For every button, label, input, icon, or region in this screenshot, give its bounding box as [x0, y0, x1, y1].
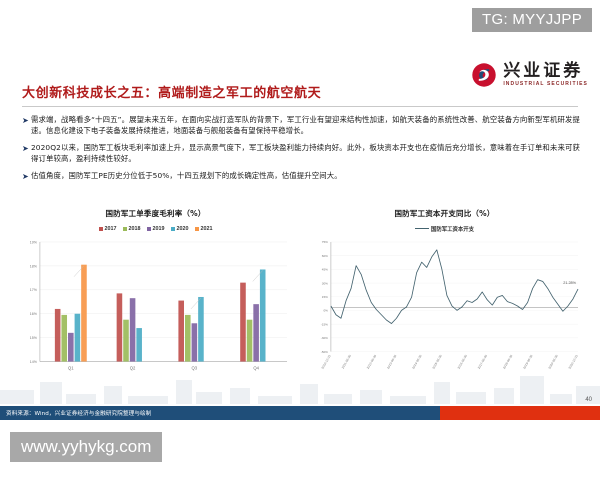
- logo-name-en: INDUSTRIAL SECURITIES: [503, 82, 588, 87]
- legend-label: 2018: [129, 226, 141, 232]
- legend-label: 国防军工资本开支: [431, 225, 474, 233]
- bullet-arrow-icon: ➤: [22, 171, 31, 182]
- bullet-item: ➤ 估值角度，国防军工PE历史分位低于50%，十四五规划下的成长确定性高，估值提…: [22, 170, 580, 182]
- y-axis-tick-label: -15%: [321, 322, 328, 326]
- legend-color-swatch: [99, 227, 103, 231]
- footer-bar: 资料来源：Wind，兴业证券经济与金融研究院整理与绘制: [0, 406, 600, 420]
- y-axis-tick-label: 0%: [323, 309, 328, 313]
- x-axis-tick-label: 2015-06-30: [431, 354, 442, 370]
- legend-item: 2021: [195, 226, 213, 232]
- source-text: 资料来源：Wind，兴业证券经济与金融研究院整理与绘制: [6, 409, 151, 417]
- bullet-arrow-icon: ➤: [22, 143, 31, 154]
- chart-title: 国防军工资本开支同比（%）: [305, 208, 584, 219]
- site-watermark: www.yyhykg.com: [10, 432, 162, 462]
- bar: [198, 297, 204, 362]
- legend-item: 2019: [147, 226, 165, 232]
- bullet-text: 需求端，战略看多“十四五”。展望未来五年，在面向实战打造军队的背景下，军工行业有…: [31, 114, 580, 137]
- bullet-list: ➤ 需求端，战略看多“十四五”。展望未来五年，在面向实战打造军队的背景下，军工行…: [22, 114, 580, 187]
- bullet-arrow-icon: ➤: [22, 115, 31, 126]
- x-axis-tick-label: 2011-06-30: [341, 354, 352, 370]
- bar: [260, 269, 266, 361]
- x-axis-tick-label: 2017-06-30: [477, 354, 488, 370]
- legend-color-swatch: [171, 227, 175, 231]
- x-axis-tick-label: 2013-06-30: [386, 354, 397, 370]
- bar: [253, 304, 259, 361]
- bar: [136, 328, 142, 361]
- y-axis-tick-label: -30%: [321, 336, 328, 340]
- bar: [117, 293, 123, 361]
- page-number: 40: [585, 397, 592, 403]
- line-chart-canvas: 75%60%45%30%15%0%-15%-30%-50%2010-12-312…: [305, 236, 584, 385]
- skyline-decoration: [0, 370, 600, 404]
- slide-canvas: 兴业证券 INDUSTRIAL SECURITIES 大创新科技成长之五：高端制…: [0, 50, 600, 420]
- y-axis-tick-label: 18%: [30, 264, 38, 268]
- bullet-text: 2020Q2以来，国防军工板块毛利率加速上升，显示高景气度下，军工板块盈利能力持…: [31, 142, 580, 165]
- x-axis-tick-label: 2016-06-30: [457, 354, 468, 370]
- y-axis-tick-label: 15%: [30, 336, 38, 340]
- bar: [130, 298, 136, 361]
- brand-logo: 兴业证券 INDUSTRIAL SECURITIES: [471, 62, 588, 88]
- bar: [247, 320, 253, 362]
- x-axis-tick-label: 2010-12-31: [320, 354, 331, 370]
- title-row: 大创新科技成长之五：高端制造之军工的航空航天: [22, 82, 442, 101]
- bar-chart-canvas: 19%18%17%16%15%14%Q1Q2Q3Q4: [16, 236, 295, 385]
- x-axis-tick-label: 2012-06-30: [366, 354, 377, 370]
- series-annotation-label: 21.28%: [563, 281, 576, 285]
- y-axis-tick-label: 45%: [322, 268, 328, 272]
- legend-item: 2020: [171, 226, 189, 232]
- chart-legend: 20172018201920202021: [16, 224, 295, 233]
- y-axis-tick-label: 75%: [322, 240, 328, 244]
- bullet-text: 估值角度，国防军工PE历史分位低于50%，十四五规划下的成长确定性高，估值提升空…: [31, 170, 342, 181]
- page-title: 大创新科技成长之五：高端制造之军工的航空航天: [22, 82, 442, 101]
- telegram-watermark: TG: MYYJJPP: [472, 8, 592, 32]
- legend-line-swatch: [415, 228, 429, 229]
- x-axis-tick-label: 2018-06-30: [502, 354, 513, 370]
- bullet-item: ➤ 2020Q2以来，国防军工板块毛利率加速上升，显示高景气度下，军工板块盈利能…: [22, 142, 580, 165]
- y-axis-tick-label: -50%: [321, 350, 328, 354]
- footer-source-band: 资料来源：Wind，兴业证券经济与金融研究院整理与绘制: [0, 406, 440, 420]
- legend-label: 2021: [201, 226, 213, 232]
- legend-item: 2017: [99, 226, 117, 232]
- bar: [61, 315, 67, 362]
- y-axis-tick-label: 14%: [30, 360, 38, 364]
- legend-color-swatch: [147, 227, 151, 231]
- legend-label: 2020: [177, 226, 189, 232]
- footer-accent-band: [440, 406, 600, 420]
- bullet-item: ➤ 需求端，战略看多“十四五”。展望未来五年，在面向实战打造军队的背景下，军工行…: [22, 114, 580, 137]
- bar: [185, 315, 191, 362]
- legend-color-swatch: [195, 227, 199, 231]
- legend-label: 2019: [153, 226, 165, 232]
- bar: [55, 309, 61, 362]
- y-axis-tick-label: 15%: [322, 295, 328, 299]
- bar: [240, 283, 246, 362]
- x-axis-tick-label: 2014-06-30: [411, 354, 422, 370]
- y-axis-tick-label: 60%: [322, 254, 328, 258]
- bar: [81, 265, 87, 362]
- bar: [192, 323, 198, 361]
- bar: [75, 314, 81, 362]
- bar: [178, 301, 184, 362]
- chart-gross-margin: 国防军工单季度毛利率（%） 20172018201920202021 19%18…: [16, 208, 295, 388]
- chart-legend: 国防军工资本开支: [305, 224, 584, 233]
- charts-row: 国防军工单季度毛利率（%） 20172018201920202021 19%18…: [16, 208, 584, 388]
- bar: [68, 333, 74, 362]
- line-series: [331, 250, 578, 324]
- x-axis-tick-label: 2020-06-30: [547, 354, 558, 370]
- y-axis-tick-label: 30%: [322, 281, 328, 285]
- x-axis-tick-label: 2020-12-31: [568, 354, 579, 370]
- chart-title: 国防军工单季度毛利率（%）: [16, 208, 295, 219]
- logo-name-cn: 兴业证券: [503, 63, 588, 80]
- x-axis-tick-label: 2019-06-30: [522, 354, 533, 370]
- legend-item: 2018: [123, 226, 141, 232]
- bar: [123, 320, 129, 362]
- y-axis-tick-label: 19%: [30, 240, 38, 244]
- legend-color-swatch: [123, 227, 127, 231]
- y-axis-tick-label: 16%: [30, 312, 38, 316]
- industrial-securities-swirl-icon: [471, 62, 497, 88]
- legend-label: 2017: [105, 226, 117, 232]
- y-axis-tick-label: 17%: [30, 288, 38, 292]
- chart-capex-yoy: 国防军工资本开支同比（%） 国防军工资本开支 75%60%45%30%15%0%…: [305, 208, 584, 388]
- title-divider: [22, 106, 578, 107]
- legend-item: 国防军工资本开支: [415, 225, 474, 233]
